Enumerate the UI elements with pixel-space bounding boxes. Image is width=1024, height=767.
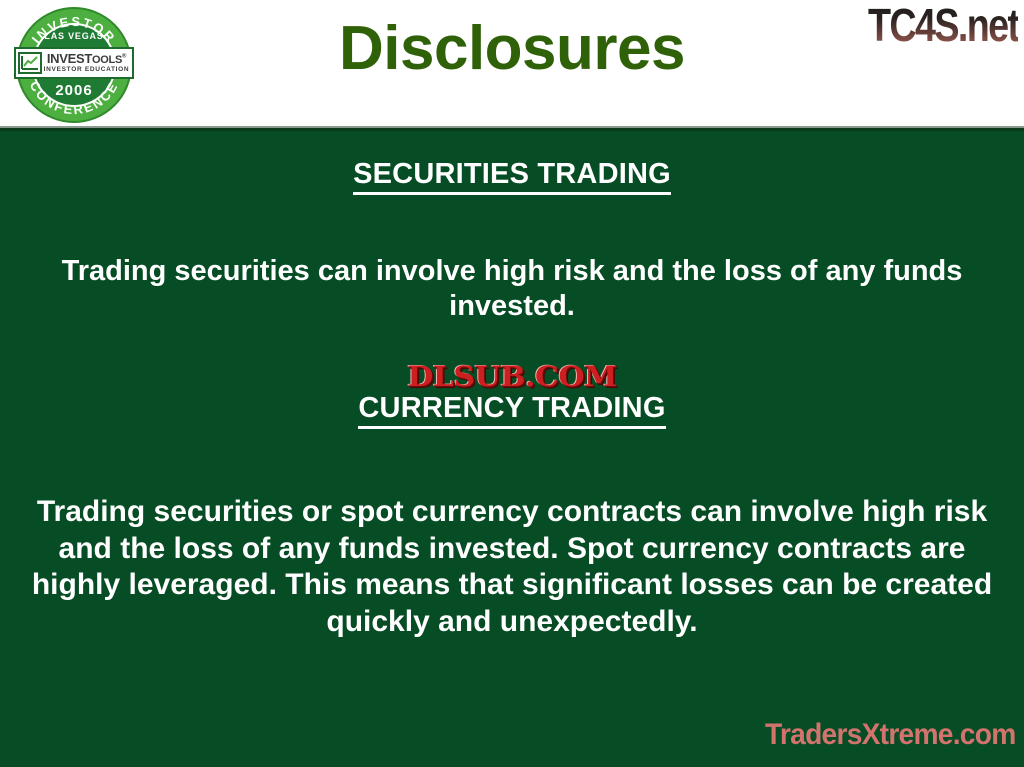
slide-body <box>0 131 1024 767</box>
tc4s-brand-logo: TC4S.net <box>868 0 1018 52</box>
seal-year-label: 2006 <box>12 82 136 99</box>
section-heading-securities: SECURITIES TRADING <box>0 158 1024 191</box>
seal-tagline: INVESTOR EDUCATION <box>42 67 131 74</box>
investools-conference-seal-logo: INVESTOR CONFERENCE LAS VEGAS INVESTOOLS… <box>12 4 136 126</box>
section-body-currency: Trading securities or spot currency cont… <box>24 494 1000 640</box>
watermark-tradersxtreme: TradersXtreme.com <box>765 718 1016 752</box>
slide-header: INVESTOR CONFERENCE LAS VEGAS INVESTOOLS… <box>0 0 1024 129</box>
section-heading-securities-text: SECURITIES TRADING <box>353 158 671 195</box>
section-heading-currency: CURRENCY TRADING <box>0 392 1024 425</box>
section-body-securities: Trading securities can involve high risk… <box>40 254 984 325</box>
slide-canvas: INVESTOR CONFERENCE LAS VEGAS INVESTOOLS… <box>0 0 1024 767</box>
seal-brand-text-group: INVESTOOLS® INVESTOR EDUCATION <box>42 52 132 73</box>
section-heading-currency-text: CURRENCY TRADING <box>358 392 665 429</box>
chart-icon <box>18 52 42 74</box>
seal-city-label: LAS VEGAS <box>12 31 136 41</box>
watermark-dlsub: DLSUB.COM <box>0 361 1024 393</box>
seal-brand-name: INVESTOOLS® <box>42 52 131 67</box>
seal-brand-plate: INVESTOOLS® INVESTOR EDUCATION <box>14 47 134 79</box>
page-title: Disclosures <box>150 18 874 80</box>
